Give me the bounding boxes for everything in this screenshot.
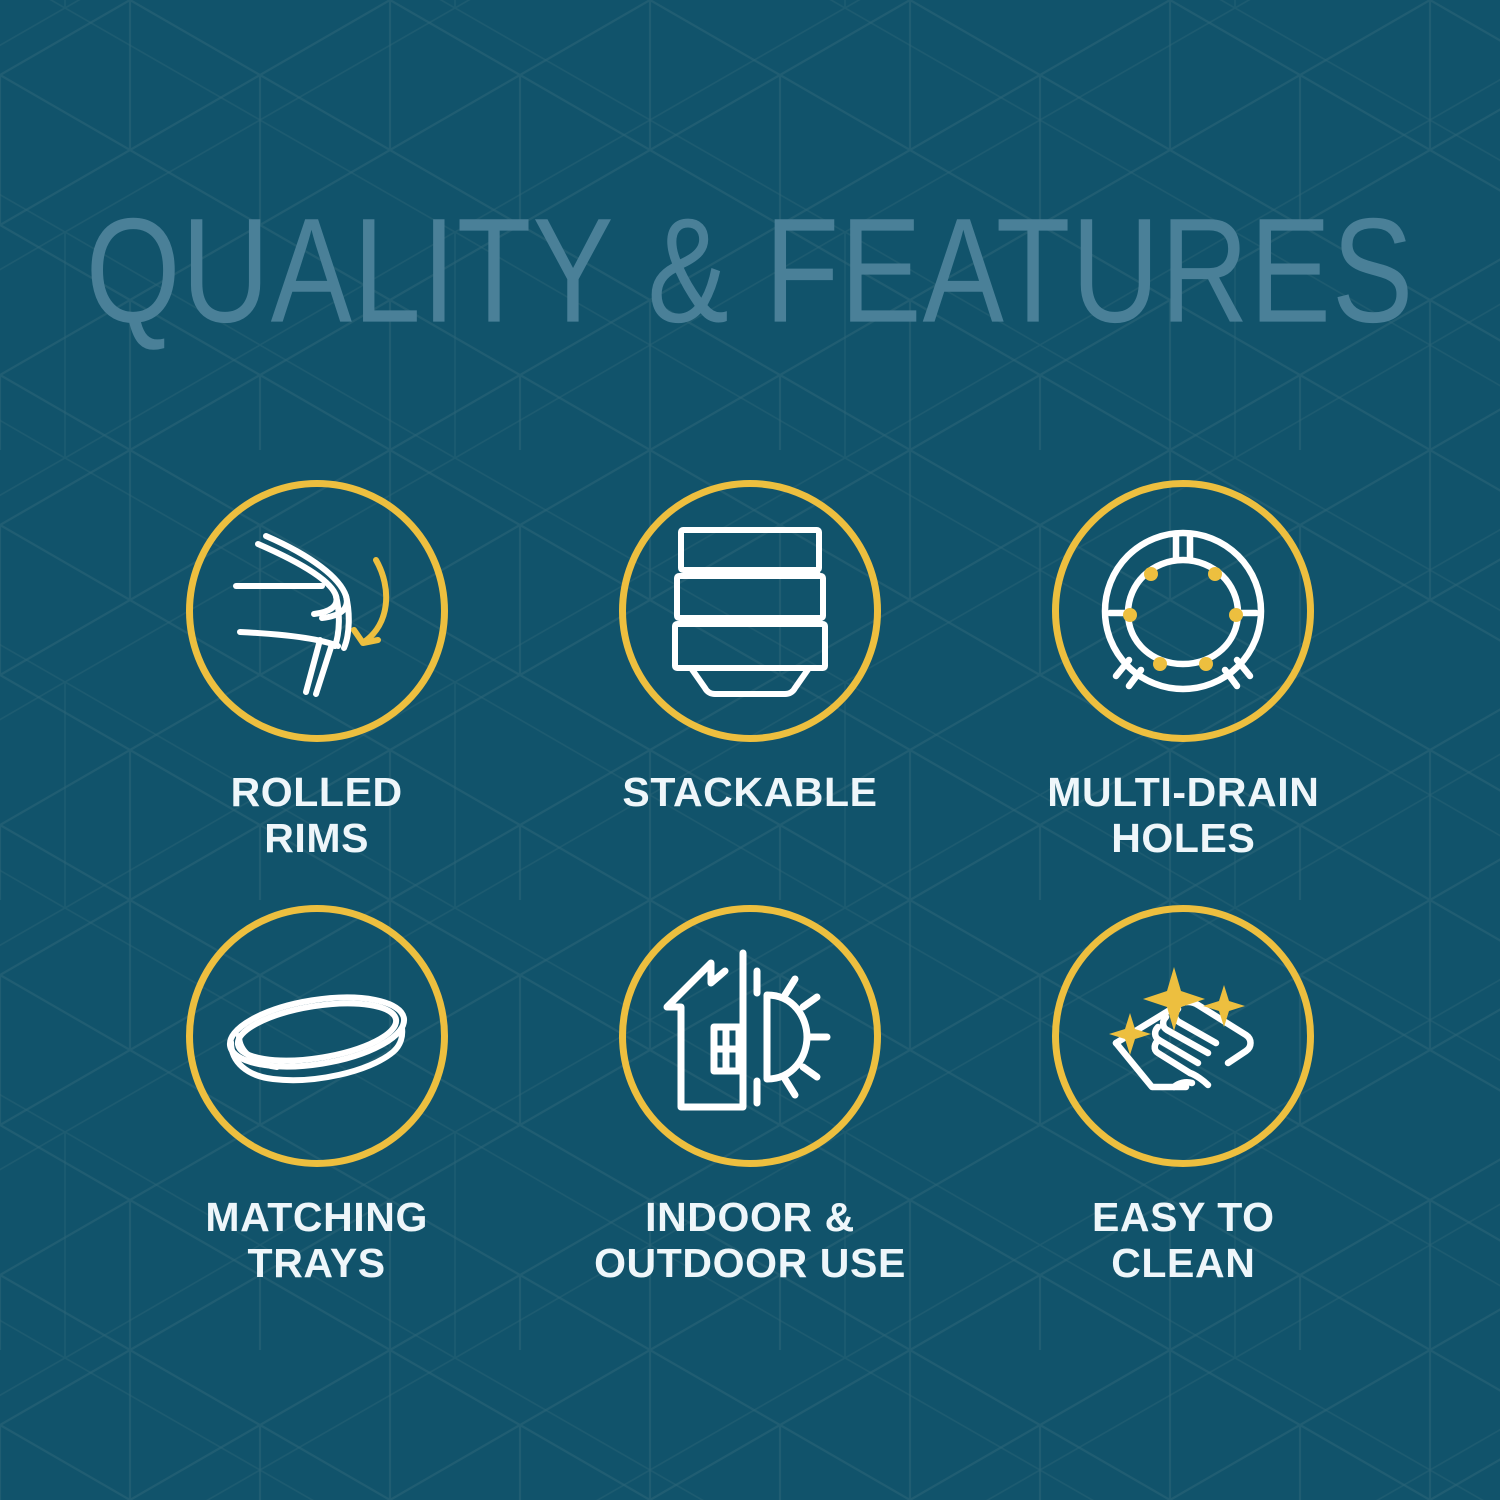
feature-icon-ring <box>619 480 881 742</box>
feature-label: STACKABLE <box>622 770 877 816</box>
feature-stackable: STACKABLE <box>533 480 966 905</box>
feature-label: MATCHING TRAYS <box>205 1195 428 1287</box>
house-sun-icon <box>655 941 845 1131</box>
feature-multi-drain-holes: MULTI-DRAIN HOLES <box>967 480 1400 905</box>
feature-matching-trays: MATCHING TRAYS <box>100 905 533 1330</box>
feature-icon-ring <box>186 905 448 1167</box>
page-title: QUALITY & FEATURES <box>0 196 1500 345</box>
rolled-rim-icon <box>222 516 412 706</box>
quality-and-features-panel: QUALITY & FEATURES <box>0 0 1500 1500</box>
feature-label: MULTI-DRAIN HOLES <box>1047 770 1319 862</box>
stacked-pots-icon <box>655 516 845 706</box>
feature-rolled-rims: ROLLED RIMS <box>100 480 533 905</box>
features-grid: ROLLED RIMS STACKABL <box>100 480 1400 1330</box>
feature-icon-ring <box>1052 480 1314 742</box>
drain-holes-icon <box>1088 516 1278 706</box>
hand-wipe-sparkle-icon <box>1086 939 1281 1134</box>
saucer-tray-icon <box>217 936 417 1136</box>
feature-label: INDOOR & OUTDOOR USE <box>594 1195 906 1287</box>
feature-icon-ring <box>1052 905 1314 1167</box>
feature-indoor-outdoor-use: INDOOR & OUTDOOR USE <box>533 905 966 1330</box>
feature-label: ROLLED RIMS <box>231 770 403 862</box>
feature-label: EASY TO CLEAN <box>1092 1195 1275 1287</box>
feature-icon-ring <box>186 480 448 742</box>
feature-icon-ring <box>619 905 881 1167</box>
feature-easy-to-clean: EASY TO CLEAN <box>967 905 1400 1330</box>
